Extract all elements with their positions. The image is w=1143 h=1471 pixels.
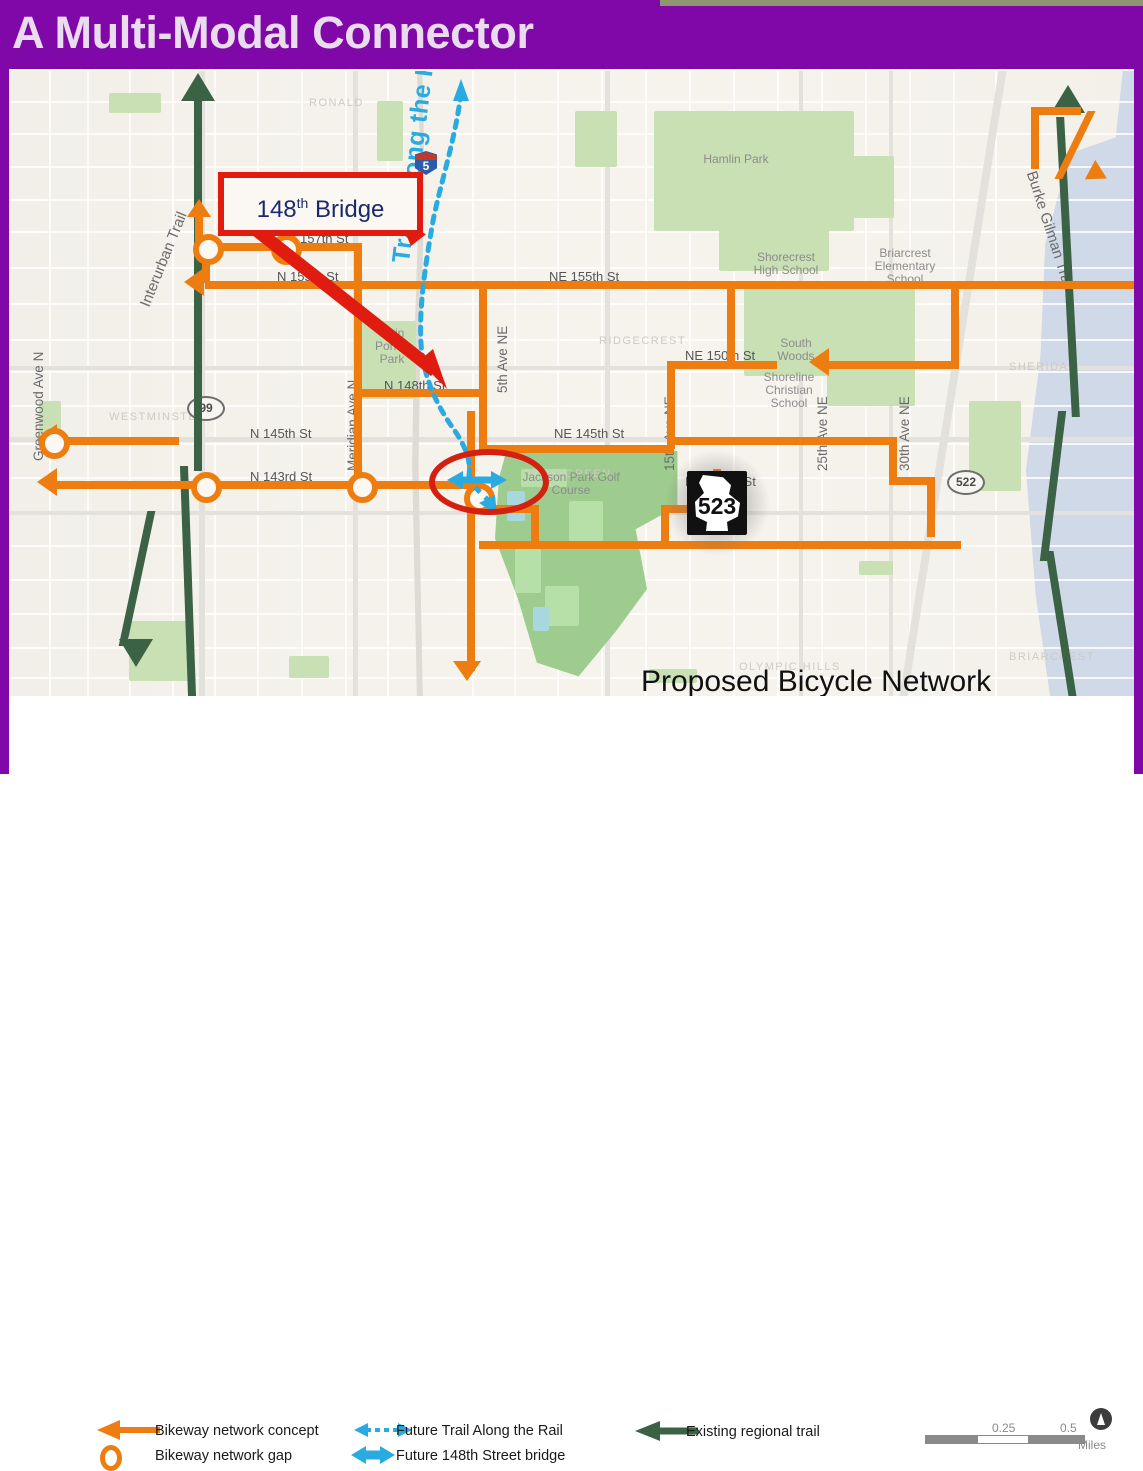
callout-pointer-arrow [247,221,462,401]
map-caption: Proposed Bicycle Network [641,665,991,699]
legend-label-existing-trail: Existing regional trail [686,1424,820,1440]
future-trail-along-the-rail [9,71,1134,696]
left-page-border [0,69,9,774]
scale-tick-mid: 0.25 [992,1421,1015,1435]
legend-label-bikeway-concept: Bikeway network concept [155,1423,319,1439]
callout-148th-bridge: 148th Bridge [218,172,423,236]
bridge-highlight-ellipse [429,449,549,515]
map-canvas[interactable]: RONALD OLYMPIC HILLS EVERGREEN RIDGECRES… [9,71,1134,696]
right-page-border [1134,0,1143,774]
legend-label-148th-bridge: Future 148th Street bridge [396,1448,565,1464]
orange-circle-gap-icon [100,1445,122,1471]
north-arrow-icon [1090,1408,1112,1430]
cyan-double-arrow-icon [350,1444,396,1466]
scale-bar [925,1435,1085,1445]
page-title: A Multi-Modal Connector [12,2,752,64]
map-legend: Bikeway network concept Bikeway network … [0,700,1143,774]
slide-root: A Multi-Modal Connector [0,0,1143,774]
legend-label-bikeway-gap: Bikeway network gap [155,1448,292,1464]
legend-label-future-trail: Future Trail Along the Rail [396,1423,563,1439]
orange-arrow-icon [96,1420,162,1440]
scale-tick-end: 0.5 [1060,1421,1077,1435]
highway-shield-523: 523 [687,471,747,535]
callout-label: 148th Bridge [224,178,417,230]
